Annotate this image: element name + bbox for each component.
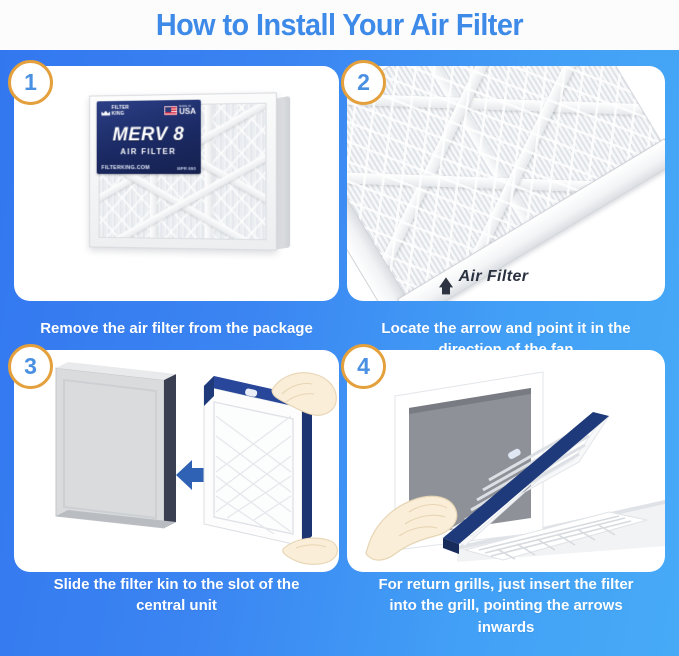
- crown-icon: [101, 108, 110, 116]
- made-in-label: MADE IN: [179, 105, 196, 108]
- return-grille-svg: [347, 350, 665, 572]
- step-card-1: FILTER KING MADE IN USA: [14, 66, 339, 301]
- step-badge-3: 3: [8, 344, 53, 389]
- merv-rating: MERV 8: [101, 124, 195, 147]
- step-card-2: Air Filter 2 Locate the arrow and point …: [347, 66, 665, 301]
- filter-king-logo: FILTER KING: [101, 106, 129, 117]
- filter-support-bar: [418, 66, 537, 232]
- step-badge-2: 2: [341, 60, 386, 105]
- caption-line: into the grill, pointing the arrows: [389, 597, 622, 614]
- caption-line: central unit: [136, 597, 217, 614]
- brand-line-2: KING: [111, 110, 124, 116]
- central-unit-slot: [56, 362, 176, 528]
- filter-x-support: [347, 91, 643, 114]
- step-card-4: 4 For return grills, just insert the fil…: [347, 350, 665, 572]
- infographic-root: How to Install Your Air Filter: [0, 0, 679, 656]
- steps-grid: FILTER KING MADE IN USA: [0, 50, 679, 656]
- filter-front-view: FILTER KING MADE IN USA: [89, 92, 277, 250]
- us-flag-icon: [164, 106, 177, 115]
- step-1-image-card: FILTER KING MADE IN USA: [14, 66, 339, 301]
- caption-line: For return grills, just insert the filte…: [378, 576, 633, 593]
- step-badge-4: 4: [341, 344, 386, 389]
- step-4-caption: For return grills, just insert the filte…: [347, 574, 665, 638]
- product-type: AIR FILTER: [101, 147, 195, 156]
- country-label: USA: [179, 108, 196, 116]
- filter-corner-illustration: Air Filter: [347, 66, 665, 301]
- filter-product-label: FILTER KING MADE IN USA: [97, 100, 201, 174]
- angled-filter-corner: Air Filter: [347, 66, 665, 301]
- step-number: 1: [24, 71, 37, 94]
- page-title: How to Install Your Air Filter: [156, 7, 523, 43]
- step-card-3: 3 Slide the filter kin to the slot of th…: [14, 350, 339, 572]
- mpr-label: MPR 650: [177, 166, 196, 171]
- merv8-filter-illustration: FILTER KING MADE IN USA: [14, 66, 339, 301]
- step-number: 3: [24, 355, 37, 378]
- step-3-caption: Slide the filter kin to the slot of the …: [14, 574, 339, 617]
- air-filter-text: Air Filter: [459, 268, 529, 286]
- label-top-row: FILTER KING MADE IN USA: [101, 104, 195, 118]
- step-badge-1: 1: [8, 60, 53, 105]
- step-1-caption: Remove the air filter from the package: [14, 318, 339, 339]
- label-bottom-row: FILTERKING.COM MPR 650: [101, 165, 195, 171]
- airflow-arrow-icon: [436, 277, 455, 297]
- step-3-image-card: [14, 350, 339, 572]
- filter-front-face: FILTER KING MADE IN USA: [89, 92, 277, 250]
- header-bar: How to Install Your Air Filter: [0, 0, 679, 50]
- made-in-usa-badge: MADE IN USA: [164, 105, 195, 116]
- caption-line: inwards: [478, 619, 535, 636]
- filter-support-bar: [204, 105, 211, 239]
- brand-name: FILTER KING: [111, 106, 129, 117]
- website-label: FILTERKING.COM: [101, 165, 149, 171]
- slide-filter-svg: [14, 350, 339, 572]
- step-number: 2: [357, 71, 370, 94]
- caption-line: Slide the filter kin to the slot of the: [54, 576, 300, 593]
- step-4-image-card: [347, 350, 665, 572]
- step-2-image-card: Air Filter: [347, 66, 665, 301]
- caption-line: Remove the air filter from the package: [40, 320, 313, 337]
- slide-filter-illustration: [14, 350, 339, 572]
- caption-line: Locate the arrow and point it in the: [381, 320, 630, 337]
- made-in-usa-text: MADE IN USA: [179, 105, 196, 116]
- step-number: 4: [357, 355, 370, 378]
- hand-holding-filter: [366, 496, 457, 560]
- return-grille-illustration: [347, 350, 665, 572]
